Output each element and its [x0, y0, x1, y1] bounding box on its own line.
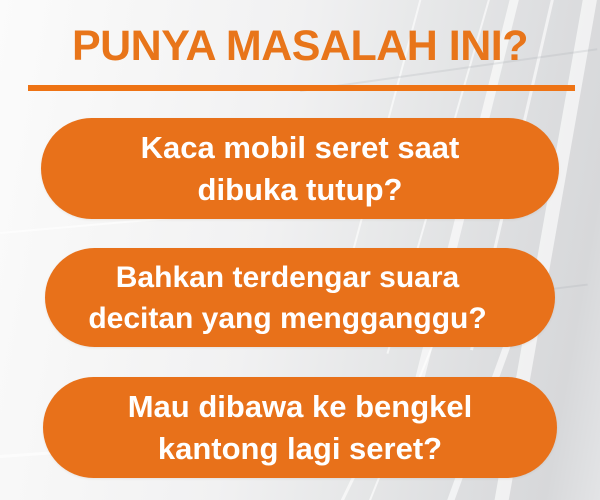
problem-list: Kaca mobil seret saat dibuka tutup? Bahk… — [0, 114, 600, 478]
promo-poster: PUNYA MASALAH INI? Kaca mobil seret saat… — [0, 0, 600, 500]
list-item: Bahkan terdengar suara decitan yang meng… — [45, 248, 555, 347]
list-item: Mau dibawa ke bengkel kantong lagi seret… — [43, 377, 557, 478]
headline-underline — [28, 85, 575, 91]
list-item-label: Mau dibawa ke bengkel kantong lagi seret… — [128, 386, 473, 470]
list-item-label: Bahkan terdengar suara decitan yang meng… — [20, 257, 555, 339]
list-item-label: Kaca mobil seret saat dibuka tutup? — [141, 127, 460, 211]
page-title: PUNYA MASALAH INI? — [0, 21, 600, 71]
list-item: Kaca mobil seret saat dibuka tutup? — [41, 118, 559, 219]
